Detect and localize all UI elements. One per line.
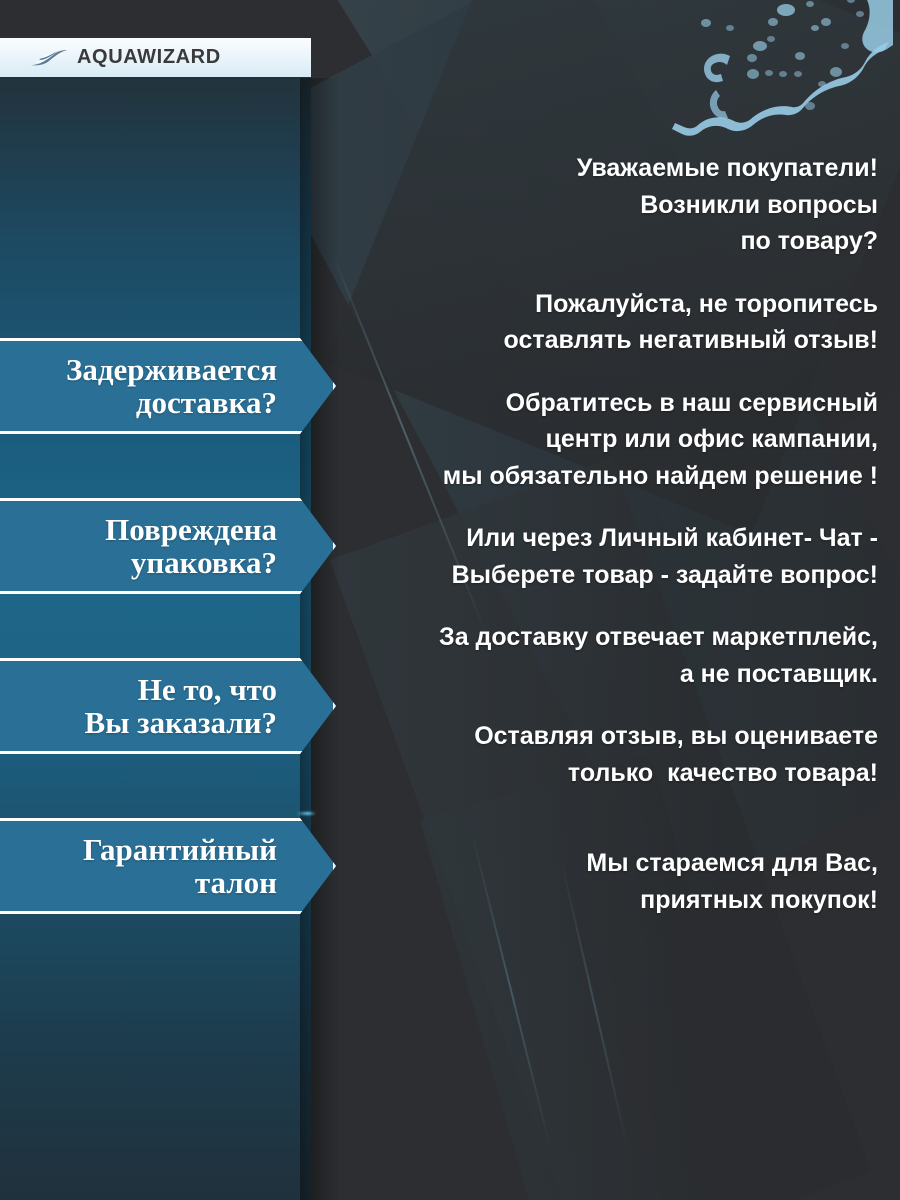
copy-line: оставлять негативный отзыв! <box>318 322 878 359</box>
copy-line: а не поставщик. <box>318 656 878 693</box>
banner-label: Задерживается доставка? <box>66 353 277 420</box>
banner-line: доставка? <box>136 385 277 420</box>
banner-line: упаковка? <box>131 545 277 580</box>
banner-label: Повреждена упаковка? <box>105 513 277 580</box>
paragraph-marketplace-responsibility: За доставку отвечает маркетплейс, а не п… <box>318 619 878 692</box>
banner-label: Гарантийный талон <box>83 833 277 900</box>
banner-delivery-delayed[interactable]: Задерживается доставка? <box>0 338 336 434</box>
banner-line: Повреждена <box>105 512 277 547</box>
paragraph-closing: Мы стараемся для Вас, приятных покупок! <box>318 845 878 918</box>
copy-line: по товару? <box>318 223 878 260</box>
copy-line: Или через Личный кабинет- Чат - <box>318 520 878 557</box>
banner-line: Вы заказали? <box>85 705 277 740</box>
edge-glow <box>296 812 316 815</box>
paragraph-contact-service: Обратитесь в наш сервисный центр или офи… <box>318 385 878 495</box>
copy-line: Возникли вопросы <box>318 187 878 224</box>
banner-line: Гарантийный <box>83 832 277 867</box>
copy-line: Уважаемые покупатели! <box>318 150 878 187</box>
banner-line: Задерживается <box>66 352 277 387</box>
message-column: Уважаемые покупатели! Возникли вопросы п… <box>318 150 878 918</box>
brand-logo-bar: AQUAWIZARD <box>0 38 311 77</box>
copy-line: Мы стараемся для Вас, <box>318 845 878 882</box>
water-splash-icon <box>670 0 900 144</box>
promo-card: AQUAWIZARD Задерживается доставка? Повре… <box>0 0 900 1200</box>
banner-warranty-card[interactable]: Гарантийный талон <box>0 818 336 914</box>
wave-lines-icon <box>30 48 68 68</box>
banner-label: Не то, что Вы заказали? <box>85 673 277 740</box>
copy-line: мы обязательно найдем решение ! <box>318 458 878 495</box>
copy-line: Оставляя отзыв, вы оцениваете <box>318 718 878 755</box>
copy-line: центр или офис кампании, <box>318 421 878 458</box>
banner-wrong-item[interactable]: Не то, что Вы заказали? <box>0 658 336 754</box>
banner-line: Не то, что <box>138 672 277 707</box>
copy-line: приятных покупок! <box>318 882 878 919</box>
banner-line: талон <box>195 865 277 900</box>
copy-line: Выберете товар - задайте вопрос! <box>318 557 878 594</box>
copy-line: За доставку отвечает маркетплейс, <box>318 619 878 656</box>
left-blue-panel <box>0 78 311 1200</box>
spacer <box>318 817 878 845</box>
copy-line: Пожалуйста, не торопитесь <box>318 286 878 323</box>
paragraph-review-quality-only: Оставляя отзыв, вы оцениваете только кач… <box>318 718 878 791</box>
paragraph-greeting: Уважаемые покупатели! Возникли вопросы п… <box>318 150 878 260</box>
copy-line: только качество товара! <box>318 755 878 792</box>
copy-line: Обратитесь в наш сервисный <box>318 385 878 422</box>
banner-package-damaged[interactable]: Повреждена упаковка? <box>0 498 336 594</box>
paragraph-chat-instructions: Или через Личный кабинет- Чат - Выберете… <box>318 520 878 593</box>
brand-name: AQUAWIZARD <box>77 46 221 69</box>
paragraph-no-negative-review: Пожалуйста, не торопитесь оставлять нега… <box>318 286 878 359</box>
